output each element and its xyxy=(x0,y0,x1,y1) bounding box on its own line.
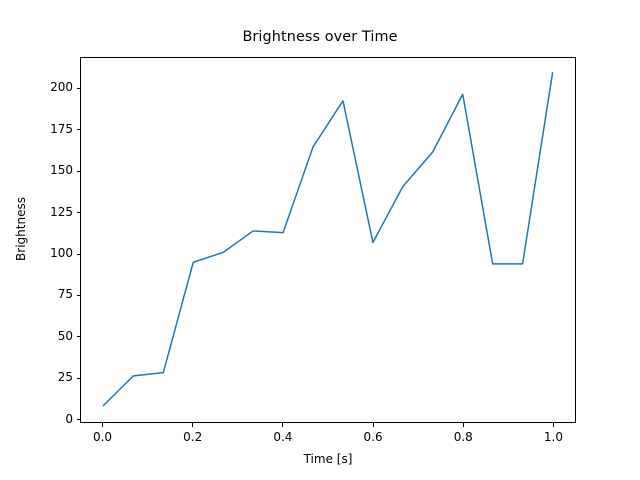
y-tick-mark xyxy=(77,378,81,379)
x-tick-mark xyxy=(282,423,283,427)
x-tick-label: 0.4 xyxy=(253,430,313,444)
y-tick-mark xyxy=(77,88,81,89)
y-tick-label: 125 xyxy=(50,205,73,219)
y-tick-mark xyxy=(77,295,81,296)
y-tick-label: 200 xyxy=(50,80,73,94)
x-tick-label: 1.0 xyxy=(523,430,583,444)
y-tick-mark xyxy=(77,254,81,255)
y-tick-label: 50 xyxy=(58,329,73,343)
y-tick-mark xyxy=(77,419,81,420)
x-tick-mark xyxy=(373,423,374,427)
x-tick-label: 0.0 xyxy=(73,430,133,444)
line-series-svg xyxy=(81,58,575,422)
y-tick-mark xyxy=(77,171,81,172)
y-tick-label: 25 xyxy=(58,370,73,384)
x-tick-mark xyxy=(102,423,103,427)
x-tick-label: 0.8 xyxy=(433,430,493,444)
y-axis-label: Brightness xyxy=(14,149,28,309)
x-tick-mark xyxy=(463,423,464,427)
x-tick-label: 0.6 xyxy=(343,430,403,444)
matplotlib-figure: Brightness over Time 0255075100125150175… xyxy=(0,0,640,480)
y-tick-label: 75 xyxy=(58,287,73,301)
chart-title: Brightness over Time xyxy=(0,29,640,45)
y-tick-label: 100 xyxy=(50,246,73,260)
x-tick-label: 0.2 xyxy=(163,430,223,444)
y-tick-mark xyxy=(77,212,81,213)
y-tick-mark xyxy=(77,129,81,130)
y-tick-label: 175 xyxy=(50,122,73,136)
y-tick-label: 150 xyxy=(50,163,73,177)
x-axis-label: Time [s] xyxy=(80,452,576,466)
y-tick-label: 0 xyxy=(65,412,73,426)
brightness-line xyxy=(103,73,552,406)
plot-axes xyxy=(80,57,576,423)
x-tick-mark xyxy=(553,423,554,427)
x-tick-mark xyxy=(192,423,193,427)
y-tick-mark xyxy=(77,336,81,337)
